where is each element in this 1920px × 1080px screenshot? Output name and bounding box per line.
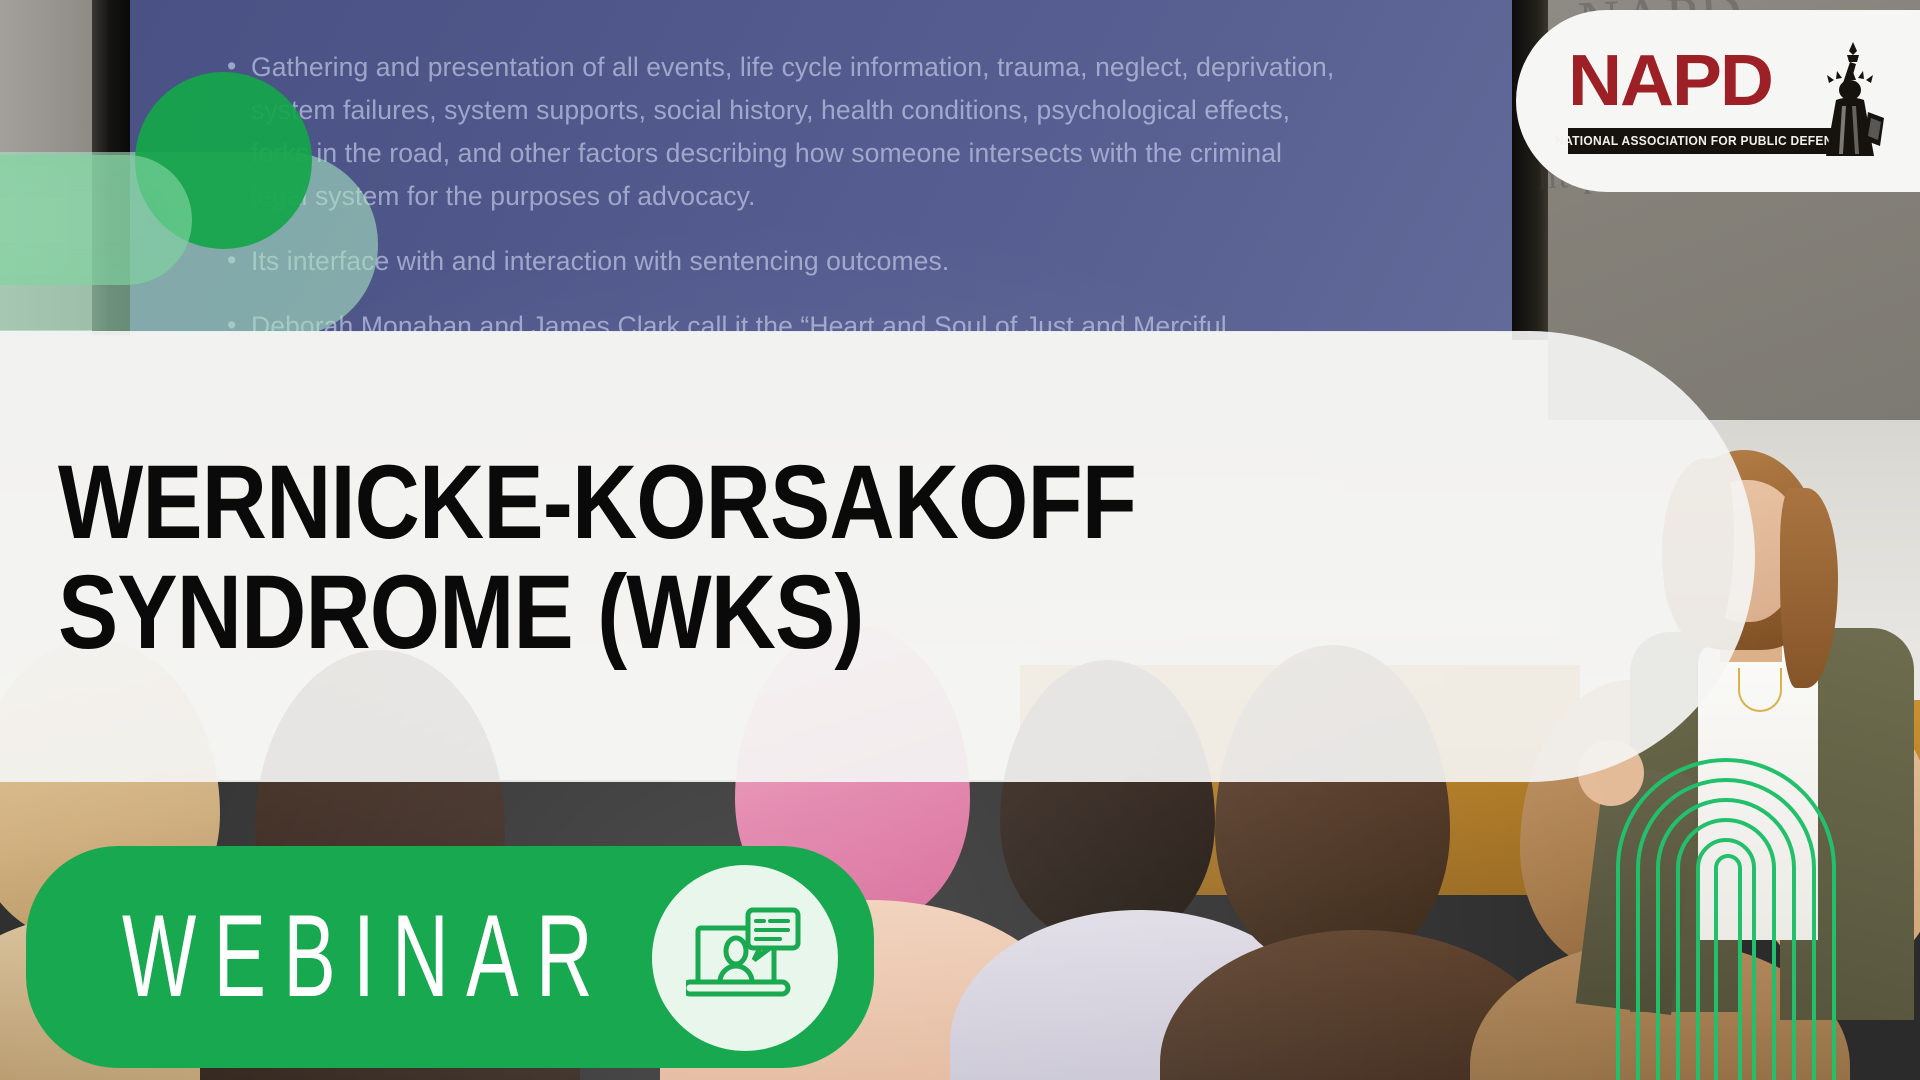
statue-of-liberty-icon (1806, 40, 1892, 158)
napd-fullname: NATIONAL ASSOCIATION FOR PUBLIC DEFENSE (1555, 134, 1849, 148)
title-line-2: SYNDROME (WKS) (58, 558, 1331, 668)
slide-bullet-2: Its interface with and interaction with … (225, 240, 1345, 283)
webinar-graphic-canvas: NAPD http://publicdefen (0, 0, 1920, 1080)
title-line-1: WERNICKE-KORSAKOFF (58, 448, 1331, 558)
page-title: WERNICKE-KORSAKOFF SYNDROME (WKS) (58, 448, 1331, 668)
napd-logo-inner: NAPD NATIONAL ASSOCIATION FOR PUBLIC DEF… (1568, 44, 1898, 164)
napd-fullname-bar: NATIONAL ASSOCIATION FOR PUBLIC DEFENSE (1568, 128, 1836, 154)
webinar-badge[interactable]: WEBINAR (26, 846, 874, 1068)
webinar-label: WEBINAR (122, 890, 610, 1024)
napd-logo-card: NAPD NATIONAL ASSOCIATION FOR PUBLIC DEF… (1516, 10, 1920, 192)
green-pill-decor-small (0, 155, 192, 285)
webinar-laptop-chat-icon (652, 865, 838, 1051)
slide-bullet-1: Gathering and presentation of all events… (225, 46, 1345, 218)
concentric-arches-decor (1590, 740, 1920, 1080)
